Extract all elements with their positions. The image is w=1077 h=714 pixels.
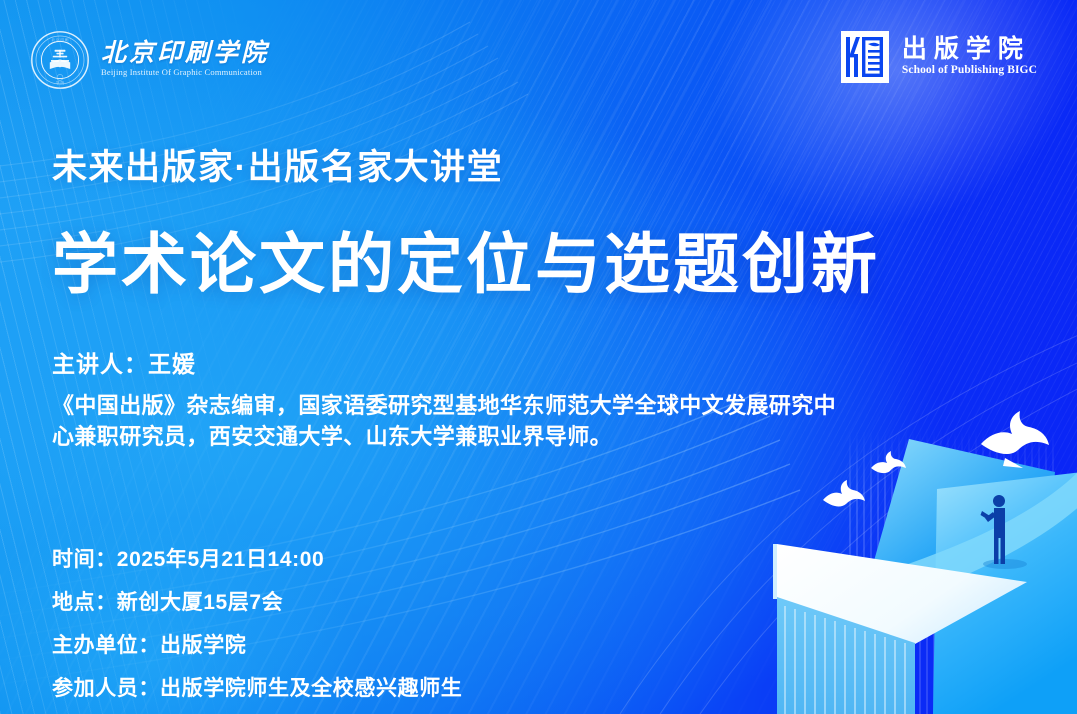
university-name-en: Beijing Institute Of Graphic Communicati… xyxy=(101,68,269,77)
school-logo: 出版学院 School of Publishing BIGC xyxy=(840,30,1037,84)
event-details: 时间：2025年5月21日14:00 地点：新创大厦15层7会 主办单位：出版学… xyxy=(52,543,462,702)
detail-time: 时间：2025年5月21日14:00 xyxy=(52,543,462,573)
detail-location: 地点：新创大厦15层7会 xyxy=(52,586,462,616)
bigc-circular-seal-icon: 北 京 印 刷 学 院 xyxy=(30,30,90,90)
event-poster: 北 京 印 刷 学 院 北京印刷学院 Beijing Institute Of … xyxy=(0,0,1077,714)
school-of-publishing-seal-icon xyxy=(840,30,890,84)
detail-audience: 参加人员：出版学院师生及全校感兴趣师生 xyxy=(52,672,462,702)
speaker-name: 主讲人：王媛 xyxy=(52,345,842,379)
speaker-bio: 《中国出版》杂志编审，国家语委研究型基地华东师范大学全球中文发展研究中心兼职研究… xyxy=(52,390,842,452)
poster-title: 学术论文的定位与选题创新 xyxy=(52,230,880,299)
poster-header: 北 京 印 刷 学 院 北京印刷学院 Beijing Institute Of … xyxy=(0,0,1077,108)
university-name-cn: 北京印刷学院 xyxy=(101,41,269,66)
school-name-cn: 出版学院 xyxy=(902,37,1030,62)
detail-organizer: 主办单位：出版学院 xyxy=(52,629,462,659)
university-logo: 北 京 印 刷 学 院 北京印刷学院 Beijing Institute Of … xyxy=(30,30,269,90)
svg-text:北 京 印 刷: 北 京 印 刷 xyxy=(51,37,68,42)
svg-text:学 院: 学 院 xyxy=(56,80,64,85)
school-name-en: School of Publishing BIGC xyxy=(902,65,1037,77)
speaker-block: 主讲人：王媛 《中国出版》杂志编审，国家语委研究型基地华东师范大学全球中文发展研… xyxy=(52,345,842,452)
poster-kicker: 未来出版家·出版名家大讲堂 xyxy=(52,139,503,190)
